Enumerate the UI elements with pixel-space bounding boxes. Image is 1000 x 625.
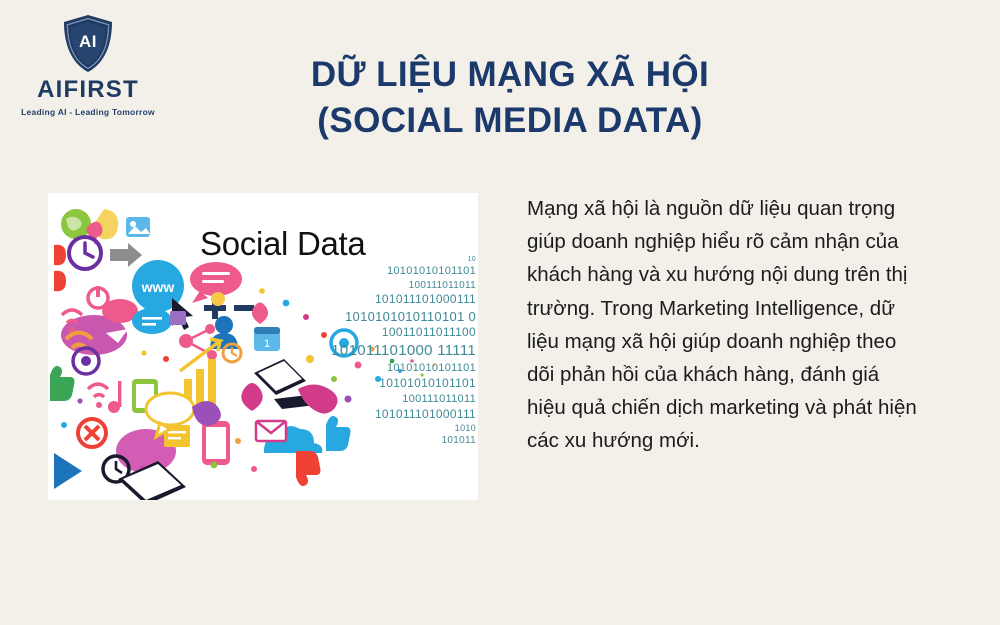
binary-line: 10011011011100 xyxy=(294,325,476,341)
brand-wordmark: AIFIRST xyxy=(37,76,139,104)
binary-data-stream: 1010101010101101100111011011101011101000… xyxy=(294,255,476,448)
shield-ai-icon: AI xyxy=(61,14,115,74)
body-paragraph: Mạng xã hội là nguồn dữ liệu quan trọng … xyxy=(527,192,919,458)
calendar-day-label: 1 xyxy=(264,338,270,350)
binary-line: 100111011011 xyxy=(294,279,476,292)
svg-text:AI: AI xyxy=(79,32,97,51)
binary-line: 100111011011 xyxy=(294,392,476,407)
www-bubble-label: www xyxy=(141,279,175,295)
brand-logo: AI AIFIRST Leading AI - Leading Tomorrow xyxy=(18,14,158,134)
binary-line: 10 xyxy=(294,255,476,264)
brand-tagline: Leading AI - Leading Tomorrow xyxy=(21,107,155,117)
binary-line: 10101010101101 xyxy=(294,361,476,376)
page-title-line-2: (SOCIAL MEDIA DATA) xyxy=(230,98,790,144)
binary-line: 1010 xyxy=(294,423,476,435)
illustration-panel: www 1 xyxy=(48,193,478,500)
page-title: DỮ LIỆU MẠNG XÃ HỘI (SOCIAL MEDIA DATA) xyxy=(230,52,790,144)
page-title-line-1: DỮ LIỆU MẠNG XÃ HỘI xyxy=(230,52,790,98)
binary-line: 101011101000111 xyxy=(294,292,476,308)
binary-line: 10101010101101 xyxy=(294,376,476,392)
binary-line: 101011101000111 xyxy=(294,407,476,423)
binary-line: 101011101000 11111 xyxy=(294,341,476,361)
binary-line: 101011 xyxy=(294,434,476,447)
binary-line: 10101010101101 xyxy=(294,264,476,279)
binary-line: 1010101010110101 0 xyxy=(294,308,476,325)
